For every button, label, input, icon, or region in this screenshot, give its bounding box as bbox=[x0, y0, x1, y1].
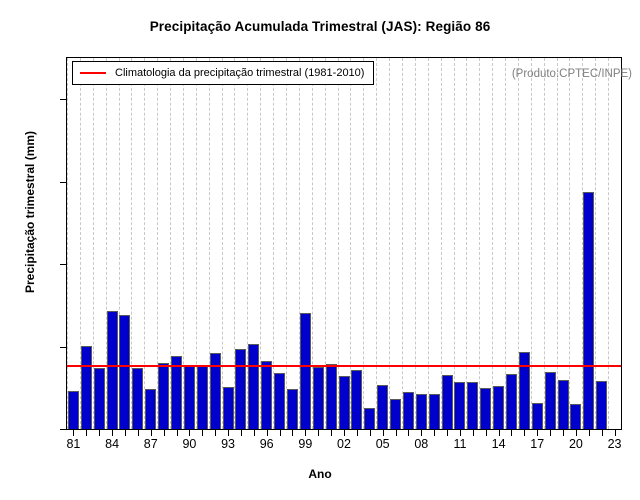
climatology-reference-line bbox=[67, 365, 621, 367]
x-axis-tick bbox=[357, 430, 358, 436]
x-axis-tick bbox=[589, 430, 590, 436]
x-axis-tick-label: 99 bbox=[285, 437, 325, 451]
x-axis-tick bbox=[73, 430, 74, 436]
x-axis-tick-label: 20 bbox=[556, 437, 596, 451]
x-axis-tick bbox=[524, 430, 525, 436]
x-axis-tick bbox=[421, 430, 422, 436]
x-axis-tick-label: 23 bbox=[595, 437, 635, 451]
x-axis-tick bbox=[370, 430, 371, 436]
x-axis-tick-label: 14 bbox=[479, 437, 519, 451]
source-annotation: (Produto:CPTEC/INPE) bbox=[512, 68, 632, 80]
x-axis-tick-label: 93 bbox=[208, 437, 248, 451]
x-axis-tick bbox=[215, 430, 216, 436]
y-axis-title: Precipitação trimestral (mm) bbox=[23, 22, 37, 402]
x-axis-tick bbox=[292, 430, 293, 436]
x-axis-tick bbox=[408, 430, 409, 436]
x-axis-tick bbox=[563, 430, 564, 436]
x-axis-tick-label: 11 bbox=[440, 437, 480, 451]
page-title: Precipitação Acumulada Trimestral (JAS):… bbox=[0, 19, 640, 34]
x-axis-tick bbox=[550, 430, 551, 436]
x-axis-tick bbox=[86, 430, 87, 436]
climatology-line-layer bbox=[67, 58, 621, 429]
x-axis-tick bbox=[434, 430, 435, 436]
x-axis-tick bbox=[254, 430, 255, 436]
y-axis-tick bbox=[60, 429, 66, 430]
x-axis-tick bbox=[151, 430, 152, 436]
y-axis-tick bbox=[60, 347, 66, 348]
y-axis-tick bbox=[60, 182, 66, 183]
x-axis-tick-label: 96 bbox=[247, 437, 287, 451]
x-axis-tick-label: 05 bbox=[363, 437, 403, 451]
x-axis-tick bbox=[511, 430, 512, 436]
legend: Climatologia da precipitação trimestral … bbox=[72, 61, 374, 85]
x-axis-tick bbox=[447, 430, 448, 436]
x-axis-tick bbox=[473, 430, 474, 436]
x-axis-tick bbox=[383, 430, 384, 436]
x-axis-tick bbox=[164, 430, 165, 436]
x-axis-tick-label: 17 bbox=[517, 437, 557, 451]
x-axis-tick bbox=[615, 430, 616, 436]
x-axis-tick-label: 08 bbox=[401, 437, 441, 451]
legend-label: Climatologia da precipitação trimestral … bbox=[115, 67, 364, 79]
chart-figure: Precipitação Acumulada Trimestral (JAS):… bbox=[0, 0, 640, 500]
y-axis-tick bbox=[60, 99, 66, 100]
x-axis-tick-label: 81 bbox=[53, 437, 93, 451]
x-axis-tick bbox=[576, 430, 577, 436]
x-axis-tick bbox=[396, 430, 397, 436]
x-axis-tick bbox=[602, 430, 603, 436]
x-axis-tick-label: 90 bbox=[169, 437, 209, 451]
x-axis-tick bbox=[318, 430, 319, 436]
x-axis-tick-label: 84 bbox=[92, 437, 132, 451]
x-axis-tick bbox=[125, 430, 126, 436]
x-axis-tick bbox=[331, 430, 332, 436]
legend-line-swatch bbox=[80, 72, 106, 74]
x-axis-tick bbox=[99, 430, 100, 436]
x-axis-tick bbox=[460, 430, 461, 436]
x-axis-tick bbox=[499, 430, 500, 436]
x-axis-tick bbox=[280, 430, 281, 436]
x-axis-tick bbox=[202, 430, 203, 436]
y-axis-tick bbox=[60, 264, 66, 265]
x-axis-tick bbox=[177, 430, 178, 436]
x-axis-tick-label: 87 bbox=[131, 437, 171, 451]
x-axis-tick bbox=[241, 430, 242, 436]
x-axis-tick bbox=[344, 430, 345, 436]
x-axis-tick bbox=[112, 430, 113, 436]
x-axis-tick bbox=[138, 430, 139, 436]
plot-area bbox=[66, 57, 622, 430]
x-axis-tick bbox=[486, 430, 487, 436]
x-axis-tick bbox=[305, 430, 306, 436]
x-axis-tick bbox=[189, 430, 190, 436]
x-axis-title: Ano bbox=[0, 467, 640, 481]
x-axis-tick bbox=[267, 430, 268, 436]
x-axis-tick bbox=[537, 430, 538, 436]
x-axis-tick bbox=[228, 430, 229, 436]
x-axis-tick-label: 02 bbox=[324, 437, 364, 451]
